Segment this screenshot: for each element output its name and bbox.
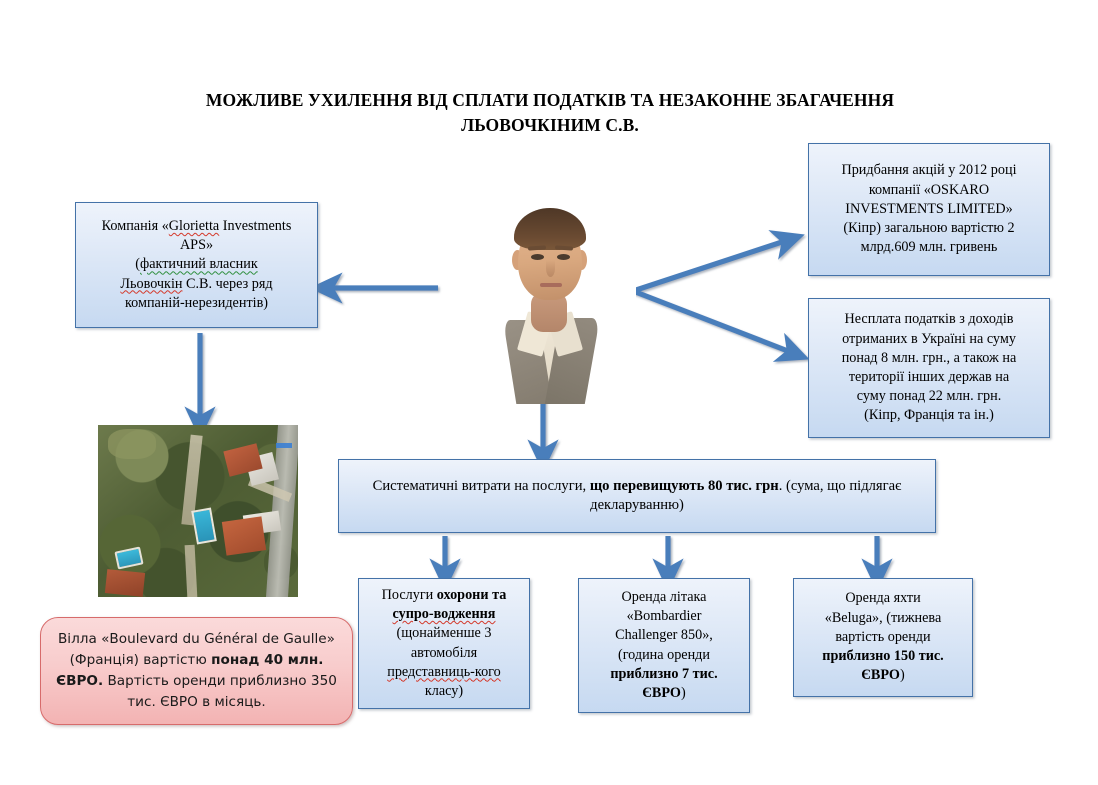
- plane-bold-2: ЄВРО: [642, 685, 681, 701]
- plane-line-1: Оренда літака: [622, 589, 707, 605]
- guard-line-5: представниць-кого: [387, 664, 500, 680]
- box-unpaid-taxes: Несплата податків з доходів отриманих в …: [808, 298, 1050, 438]
- taxes-line-2: отриманих в Україні на суму: [842, 331, 1016, 347]
- photo-hair: [514, 208, 586, 250]
- arrow-photo-to-shares: [633, 240, 788, 291]
- glorietta-spell-3: Льовочкін: [120, 276, 182, 292]
- box-company-glorietta: Компанія «Glorietta Investments APS» (фа…: [75, 202, 318, 328]
- aerial-photo-villa: [98, 425, 298, 597]
- plane-line-3: Challenger 850»,: [615, 627, 713, 643]
- yacht-close: ): [900, 667, 905, 683]
- shares-line-1: Придбання акцій у 2012 році: [841, 162, 1016, 178]
- guard-line-4: автомобіля: [411, 645, 477, 661]
- arrow-photo-to-taxes: [633, 291, 793, 353]
- glorietta-line-2: APS»: [180, 237, 213, 253]
- plane-bold-1: приблизно 7 тис.: [610, 666, 717, 682]
- shares-line-3: INVESTMENTS LIMITED»: [845, 201, 1012, 217]
- aerial-tree-cluster-1: [108, 429, 156, 459]
- yacht-line-2: «Beluga», (тижнева: [825, 610, 942, 626]
- infographic-canvas: МОЖЛИВЕ УХИЛЕННЯ ВІД СПЛАТИ ПОДАТКІВ ТА …: [0, 0, 1098, 785]
- box-systematic-expenses: Систематичні витрати на послуги, що пере…: [338, 459, 936, 533]
- yacht-bold-2: ЄВРО: [861, 667, 900, 683]
- taxes-line-6: (Кіпр, Франція та ін.): [864, 407, 994, 423]
- photo-eye-left: [531, 254, 544, 260]
- glorietta-spell-1: Glorietta: [169, 218, 219, 234]
- page-title-line-2: ЛЬОВОЧКІНИМ С.В.: [120, 113, 980, 138]
- shares-line-2: компанії «OSKARO: [869, 182, 989, 198]
- guard-text-bold-2: супро-водження: [393, 606, 496, 622]
- taxes-line-4: території інших держав на: [849, 369, 1009, 385]
- yacht-line-1: Оренда яхти: [845, 590, 920, 606]
- box-villa-france: Вілла «Boulevard du Général de Gaulle» (…: [40, 617, 353, 725]
- taxes-line-3: понад 8 млн. грн., а також на: [842, 350, 1017, 366]
- box-guard-services: Послуги охорони та супро-водження (щонай…: [358, 578, 530, 709]
- guard-text-pre: Послуги: [382, 587, 437, 603]
- portrait-photo-person: [448, 192, 636, 404]
- aerial-roof-3: [105, 569, 145, 597]
- villa-text-post: Вартість оренди приблизно 350 тис. ЄВРО …: [103, 673, 337, 710]
- guard-line-3: (щонайменше 3: [397, 625, 492, 641]
- photo-mouth: [540, 283, 562, 287]
- expenses-text-bold: що перевищують 80 тис. грн: [590, 478, 779, 494]
- plane-line-4: (година оренди: [618, 647, 710, 663]
- aerial-map-marker: [276, 443, 292, 448]
- guard-line-6: класу): [425, 683, 463, 699]
- glorietta-spell-2: фактичний власник: [140, 256, 258, 272]
- taxes-line-5: суму понад 22 млн. грн.: [857, 388, 1002, 404]
- photo-eye-right: [557, 254, 570, 260]
- yacht-line-3: вартість оренди: [835, 629, 930, 645]
- box-share-acquisition: Придбання акцій у 2012 році компанії «OS…: [808, 143, 1050, 276]
- box-yacht-rental: Оренда яхти «Beluga», (тижнева вартість …: [793, 578, 973, 697]
- yacht-bold-1: приблизно 150 тис.: [822, 648, 943, 664]
- box-plane-rental: Оренда літака «Bombardier Challenger 850…: [578, 578, 750, 713]
- shares-line-4: (Кіпр) загальною вартістю 2: [843, 220, 1014, 236]
- glorietta-line-5: компаній-нерезидентів): [125, 295, 268, 311]
- page-title: МОЖЛИВЕ УХИЛЕННЯ ВІД СПЛАТИ ПОДАТКІВ ТА …: [120, 88, 980, 138]
- page-title-line-1: МОЖЛИВЕ УХИЛЕННЯ ВІД СПЛАТИ ПОДАТКІВ ТА …: [120, 88, 980, 113]
- guard-text-bold-1: охорони та: [437, 587, 507, 603]
- plane-close: ): [681, 685, 686, 701]
- aerial-roof-2: [222, 516, 266, 555]
- taxes-line-1: Несплата податків з доходів: [845, 311, 1014, 327]
- photo-nose: [546, 260, 555, 277]
- plane-line-2: «Bombardier: [627, 608, 702, 624]
- expenses-text-pre: Систематичні витрати на послуги,: [373, 478, 590, 494]
- shares-line-5: млрд.609 млн. гривень: [861, 239, 998, 255]
